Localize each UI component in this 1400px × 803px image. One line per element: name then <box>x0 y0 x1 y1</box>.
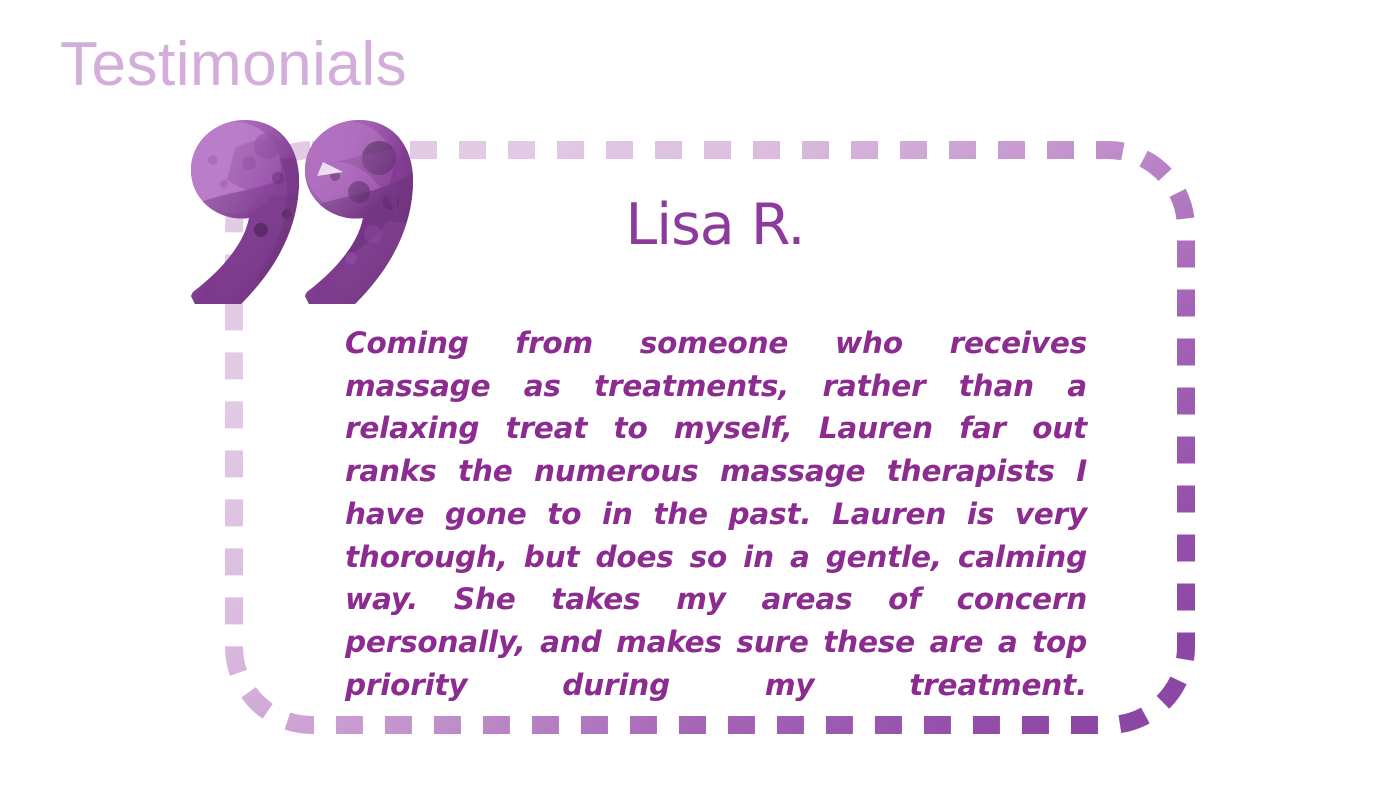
testimonial-body-text: Coming from someone who receives massage… <box>345 322 1087 749</box>
testimonial-slide: Testimonials <box>0 0 1400 803</box>
testimonial-author-name: Lisa R. <box>345 196 1085 256</box>
quote-glyph-right <box>297 118 415 308</box>
quote-glyph-left <box>183 118 303 308</box>
page-title: Testimonials <box>60 34 407 96</box>
double-closing-quote-icon <box>183 118 415 308</box>
